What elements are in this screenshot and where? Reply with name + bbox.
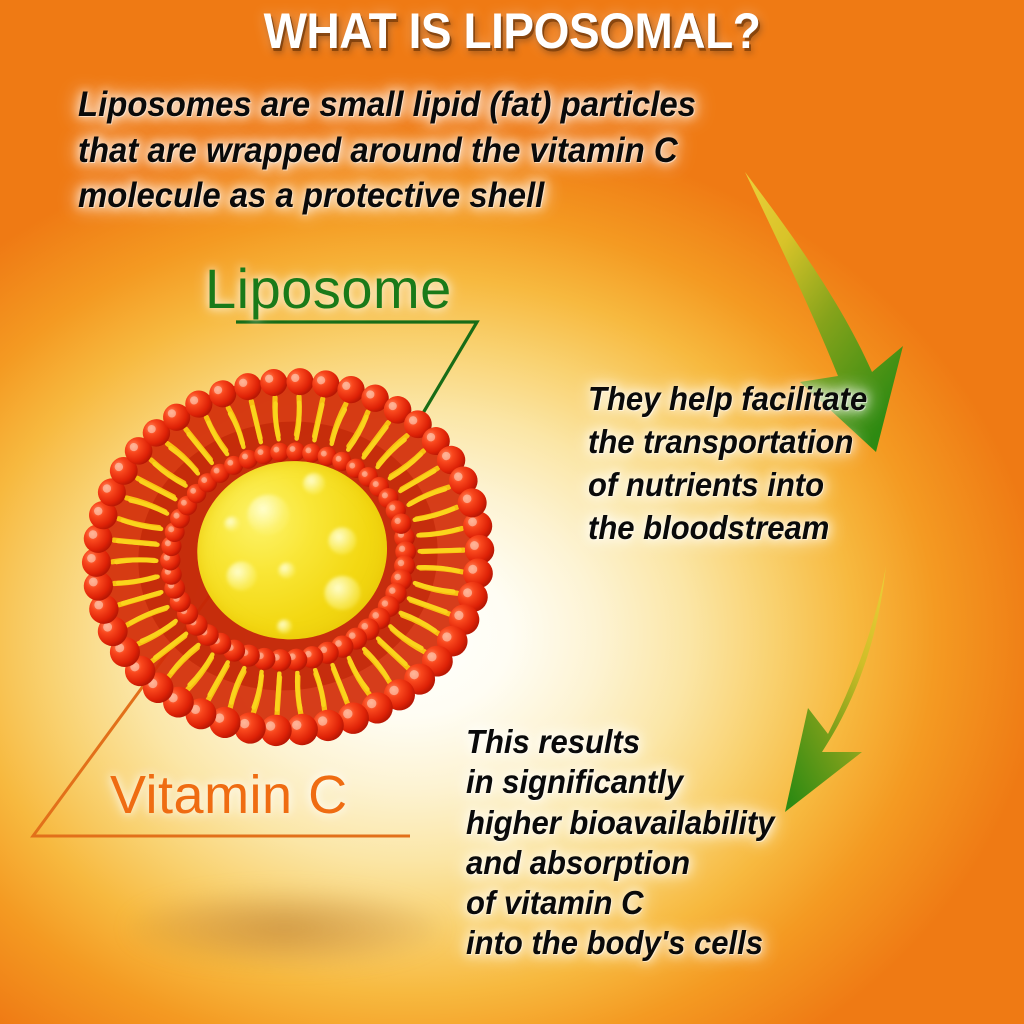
callout-results: This results in significantly higher bio… [466, 722, 775, 964]
callout-transport: They help facilitate the transportation … [588, 378, 867, 550]
liposome-cross-section-illustration [78, 366, 498, 746]
vitamin-c-label: Vitamin C [110, 764, 348, 826]
curved-arrow-down-left-icon [785, 566, 886, 812]
infographic-poster: WHAT IS LIPOSOMAL? Liposomes are small l… [0, 0, 1024, 1024]
liposome-label: Liposome [205, 256, 452, 321]
